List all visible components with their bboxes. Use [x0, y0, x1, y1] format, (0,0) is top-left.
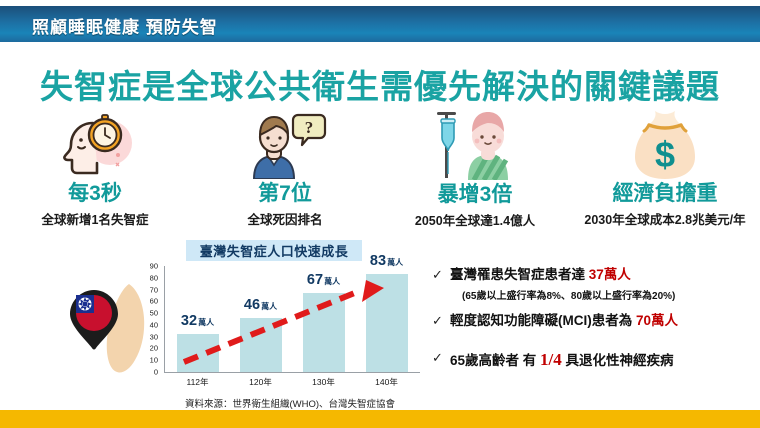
bullet-highlight: 70萬人	[636, 313, 678, 328]
check-icon: ✓	[432, 312, 450, 330]
stat-headline: 每3秒	[68, 183, 122, 204]
bullet-text: 65歲高齡者 有 1/4 具退化性神經疾病	[450, 349, 674, 372]
bullet-text-prefix: 臺灣罹患失智症患者達	[450, 267, 589, 282]
stat-subtext: 2030年全球成本2.8兆美元/年	[584, 209, 745, 228]
bar-unit: 萬人	[324, 277, 340, 286]
stat-item-every-3-seconds: 每3秒 全球新增1名失智症	[0, 108, 190, 228]
bullet-item-1: ✓ 輕度認知功能障礙(MCI)患者為 70萬人	[432, 312, 752, 330]
bullet-text: 臺灣罹患失智症患者達 37萬人	[450, 266, 631, 284]
y-axis-tick: 0	[120, 368, 158, 377]
bullet-highlight: 37萬人	[589, 267, 631, 282]
bar-cell: 32萬人	[166, 266, 229, 372]
chart-title: 臺灣失智症人口快速成長	[186, 240, 362, 261]
money-bag-icon: $	[618, 108, 712, 179]
patient-iv-drip-icon	[428, 108, 522, 180]
page-title: 失智症是全球公共衛生需優先解決的關鍵議題	[0, 60, 760, 108]
stat-subtext: 全球死因排名	[247, 209, 322, 228]
bar	[177, 334, 219, 372]
y-axis-tick: 60	[120, 297, 158, 306]
source-note: 資料來源：世界衛生組織(WHO)、台灣失智症協會	[120, 396, 460, 410]
x-axis-tick-label: 140年	[355, 376, 418, 388]
stat-item-7th-cause: ? 第7位 全球死因排名	[190, 108, 380, 228]
bar-value-label: 83萬人	[370, 252, 403, 270]
stat-headline: 暴增3倍	[438, 184, 513, 205]
bar	[303, 293, 345, 372]
bullet-text-prefix: 輕度認知功能障礙(MCI)患者為	[450, 313, 636, 328]
bar	[366, 274, 408, 372]
x-axis-tick-label: 120年	[229, 376, 292, 388]
bar-cell: 67萬人	[292, 266, 355, 372]
y-axis-line	[164, 266, 165, 373]
bar-cell: 46萬人	[229, 266, 292, 372]
bullet-item-2: ✓ 65歲高齡者 有 1/4 具退化性神經疾病	[432, 349, 752, 372]
stat-subtext: 2050年全球達1.4億人	[415, 210, 535, 229]
bar-unit: 萬人	[198, 318, 214, 327]
person-question-icon: ?	[238, 108, 332, 179]
y-axis-tick: 40	[120, 320, 158, 329]
bar-series: 32萬人46萬人67萬人83萬人	[166, 266, 418, 372]
check-icon: ✓	[432, 266, 450, 284]
bullet-text-suffix: 具退化性神經疾病	[562, 353, 674, 368]
y-axis-tick: 10	[120, 356, 158, 365]
bar-value-label: 67萬人	[307, 271, 340, 289]
bullet-text-prefix: 65歲高齡者 有	[450, 353, 540, 368]
stat-headline: 經濟負擔重	[613, 183, 718, 204]
bar-unit: 萬人	[387, 258, 403, 267]
bullet-item-0: ✓ 臺灣罹患失智症患者達 37萬人 (65歲以上盛行率為8%、80歲以上盛行率為…	[432, 266, 752, 302]
y-axis: 9080706050403020100	[120, 266, 162, 372]
bar-value: 67	[307, 272, 323, 288]
bar	[240, 318, 282, 372]
stat-item-economic-burden: $ 經濟負擔重 2030年全球成本2.8兆美元/年	[570, 108, 760, 228]
bullet-highlight: 1/4	[540, 350, 562, 369]
stat-headline: 第7位	[258, 183, 312, 204]
bar-cell: 83萬人	[355, 266, 418, 372]
bar-value: 83	[370, 253, 386, 269]
check-icon: ✓	[432, 349, 450, 367]
y-axis-tick: 30	[120, 332, 158, 341]
bullet-list: ✓ 臺灣罹患失智症患者達 37萬人 (65歲以上盛行率為8%、80歲以上盛行率為…	[432, 266, 752, 375]
y-axis-tick: 70	[120, 285, 158, 294]
bottom-accent-bar	[0, 410, 760, 428]
y-axis-tick: 80	[120, 273, 158, 282]
bullet-subtext: (65歲以上盛行率為8%、80歲以上盛行率為20%)	[462, 287, 752, 302]
svg-text:$: $	[655, 134, 675, 175]
x-axis-tick-label: 130年	[292, 376, 355, 388]
svg-text:?: ?	[305, 118, 314, 137]
bar-value: 32	[181, 313, 197, 329]
bar-unit: 萬人	[261, 302, 277, 311]
y-axis-tick: 90	[120, 262, 158, 271]
bar-value-label: 32萬人	[181, 312, 214, 330]
head-clock-icon	[48, 108, 142, 179]
x-axis-line	[164, 372, 420, 373]
bar-chart: 臺灣失智症人口快速成長 9080706050403020100 32萬人46萬人…	[120, 240, 430, 395]
header-title: 照顧睡眠健康 預防失智	[32, 13, 218, 38]
stat-row: 每3秒 全球新增1名失智症 ? 第7位 全球死因排名	[0, 108, 760, 228]
y-axis-tick: 50	[120, 309, 158, 318]
stat-item-triple-increase: 暴增3倍 2050年全球達1.4億人	[380, 108, 570, 228]
bar-value: 46	[244, 297, 260, 313]
bullet-text: 輕度認知功能障礙(MCI)患者為 70萬人	[450, 312, 678, 330]
y-axis-tick: 20	[120, 344, 158, 353]
x-axis-labels: 112年120年130年140年	[166, 376, 418, 388]
infographic-page: 照顧睡眠健康 預防失智 失智症是全球公共衛生需優先解決的關鍵議題	[0, 0, 760, 428]
x-axis-tick-label: 112年	[166, 376, 229, 388]
bar-value-label: 46萬人	[244, 296, 277, 314]
stat-subtext: 全球新增1名失智症	[42, 209, 149, 228]
